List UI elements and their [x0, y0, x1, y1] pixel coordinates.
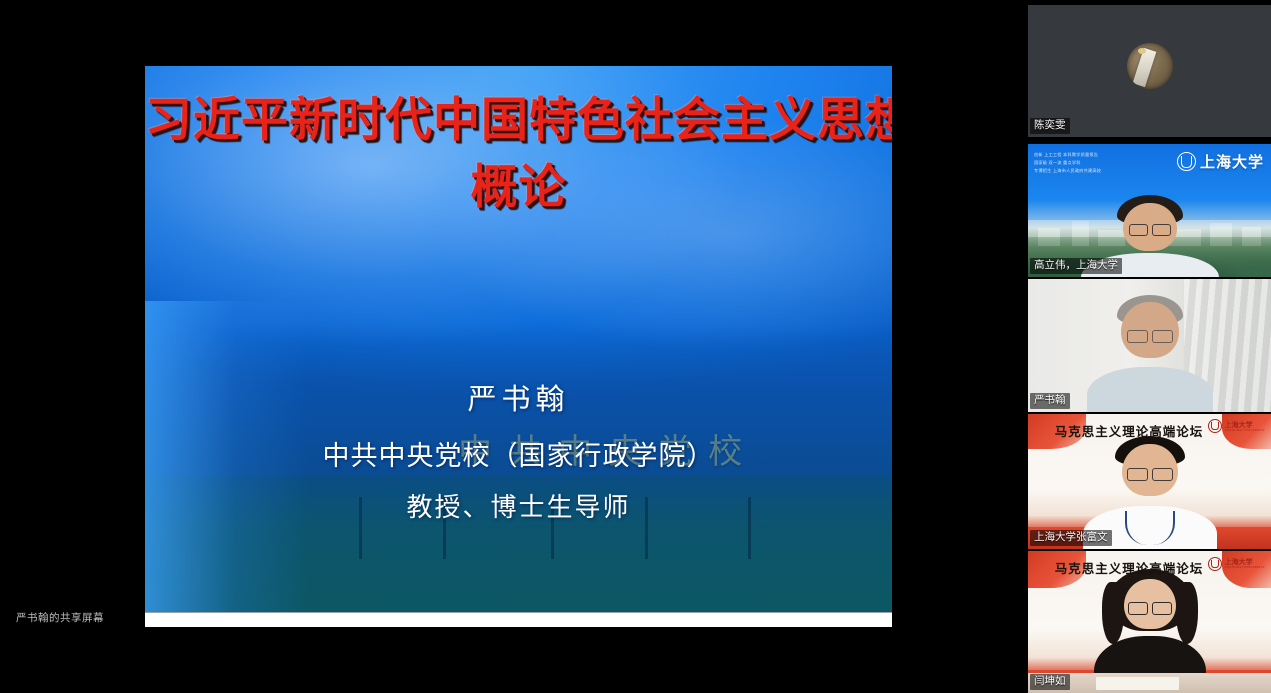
- university-logo-text: 上海大学: [1200, 151, 1264, 172]
- shared-screen-stage[interactable]: 中共中央党校 习近平新时代中国特色社会主义思想 概论 严书翰 中共中央党校（国家…: [0, 0, 1018, 693]
- figure-glasses: [1129, 224, 1171, 236]
- figure-glasses: [1127, 330, 1173, 343]
- participant-name-label: 陈奕雯: [1030, 118, 1070, 134]
- figure-body: [1087, 367, 1213, 412]
- figure-paper: [1096, 677, 1179, 690]
- university-emblem-icon: [1208, 419, 1222, 433]
- participant-name-label: 高立伟，上海大学: [1030, 258, 1122, 274]
- participant-name-label: 闫坤如: [1030, 674, 1070, 690]
- university-emblem-icon: [1177, 152, 1196, 171]
- participant-tile-5[interactable]: 马克思主义理论高端论坛 上海大学 SHANGHAI UNIVERSITY 闫坤如: [1028, 551, 1271, 693]
- forum-logo-sub: SHANGHAI UNIVERSITY: [1225, 429, 1265, 433]
- corner-text-line-1: 创新 上工工程 本科教学质量报告: [1034, 151, 1101, 159]
- figure-hair-right: [1176, 582, 1198, 644]
- participant-tile-4[interactable]: 马克思主义理论高端论坛 上海大学 SHANGHAI UNIVERSITY 上海大…: [1028, 414, 1271, 549]
- corner-text-line-2: 国家级 双一流 重点学科: [1034, 159, 1101, 167]
- avatar: [1127, 43, 1173, 89]
- participant-name-label: 严书翰: [1030, 393, 1070, 409]
- forum-university-logo: 上海大学 SHANGHAI UNIVERSITY: [1208, 419, 1265, 433]
- forum-logo-text: 上海大学 SHANGHAI UNIVERSITY: [1225, 558, 1265, 570]
- participant-tile-3[interactable]: 严书翰: [1028, 279, 1271, 412]
- slide-title: 习近平新时代中国特色社会主义思想 概论: [145, 88, 892, 221]
- forum-banner-title: 马克思主义理论高端论坛: [1055, 558, 1204, 577]
- forum-banner-title: 马克思主义理论高端论坛: [1055, 421, 1204, 440]
- presenter-title: 教授、博士生导师: [145, 487, 892, 524]
- figure-glasses: [1128, 602, 1172, 615]
- forum-university-logo: 上海大学 SHANGHAI UNIVERSITY: [1208, 557, 1265, 571]
- slide-title-line-2: 概论: [145, 155, 892, 222]
- video-conference-window: 中共中央党校 习近平新时代中国特色社会主义思想 概论 严书翰 中共中央党校（国家…: [0, 0, 1271, 693]
- forum-logo-text: 上海大学 SHANGHAI UNIVERSITY: [1225, 421, 1265, 433]
- slide-presenter-block: 严书翰 中共中央党校（国家行政学院） 教授、博士生导师: [145, 376, 892, 524]
- corner-text-line-3: 专博招生 上海市人民政府共建高校: [1034, 167, 1101, 175]
- university-emblem-icon: [1208, 557, 1222, 571]
- slide-bottom-band: [145, 612, 892, 627]
- shanghai-university-logo: 上海大学: [1177, 151, 1264, 172]
- forum-logo-sub: SHANGHAI UNIVERSITY: [1225, 566, 1265, 570]
- background-corner-text: 创新 上工工程 本科教学质量报告 国家级 双一流 重点学科 专博招生 上海市人民…: [1034, 151, 1101, 176]
- participant-filmstrip[interactable]: 陈奕雯 创新 上工工程 本科教学质量报告 国家级 双一流 重点学科 专博招生 上…: [1028, 0, 1271, 693]
- participant-tile-2[interactable]: 创新 上工工程 本科教学质量报告 国家级 双一流 重点学科 专博招生 上海市人民…: [1028, 144, 1271, 277]
- presenter-organization: 中共中央党校（国家行政学院）: [145, 434, 892, 473]
- slide-title-line-1: 习近平新时代中国特色社会主义思想: [145, 95, 892, 147]
- figure-hair-left: [1102, 582, 1124, 644]
- share-status-label: 严书翰的共享屏幕: [16, 610, 104, 625]
- figure-glasses: [1127, 468, 1173, 481]
- participant-tile-1[interactable]: 陈奕雯: [1028, 5, 1271, 137]
- presentation-slide[interactable]: 中共中央党校 习近平新时代中国特色社会主义思想 概论 严书翰 中共中央党校（国家…: [145, 66, 892, 626]
- participant-name-label: 上海大学张富文: [1030, 530, 1112, 546]
- presenter-name: 严书翰: [145, 376, 892, 418]
